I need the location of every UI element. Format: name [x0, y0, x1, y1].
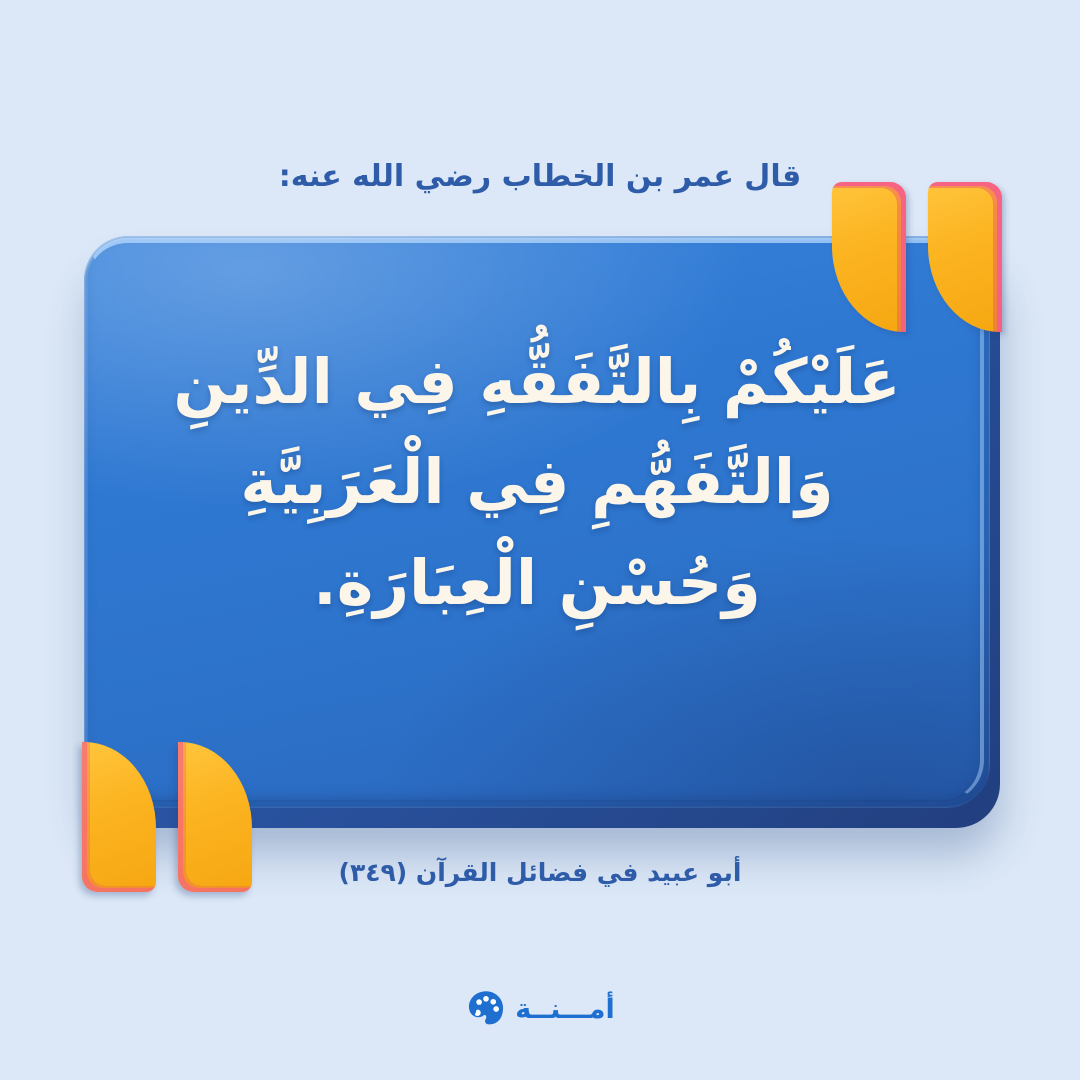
paint-palette-icon: [465, 988, 507, 1030]
brand-name: أمـــنــة: [515, 994, 615, 1025]
quote-line-2: وَالتَّفَهُّمِ فِي الْعَرَبِيَّةِ: [124, 432, 950, 532]
quote-line-3: وَحُسْنِ الْعِبَارَةِ.: [124, 533, 950, 633]
quote-stroke: [928, 182, 1002, 332]
quote-stroke: [832, 182, 906, 332]
footer-logo: أمـــنــة: [0, 988, 1080, 1030]
source-reference: أبو عبيد في فضائل القرآن (٣٤٩): [0, 858, 1080, 887]
quote-text: عَلَيْكُمْ بِالتَّفَقُّهِ فِي الدِّينِ و…: [84, 332, 990, 633]
quote-line-1: عَلَيْكُمْ بِالتَّفَقُّهِ فِي الدِّينِ: [124, 332, 950, 432]
quote-poster: قال عمر بن الخطاب رضي الله عنه: عَلَيْكُ…: [0, 0, 1080, 1080]
closing-quote-icon: [822, 182, 1002, 332]
